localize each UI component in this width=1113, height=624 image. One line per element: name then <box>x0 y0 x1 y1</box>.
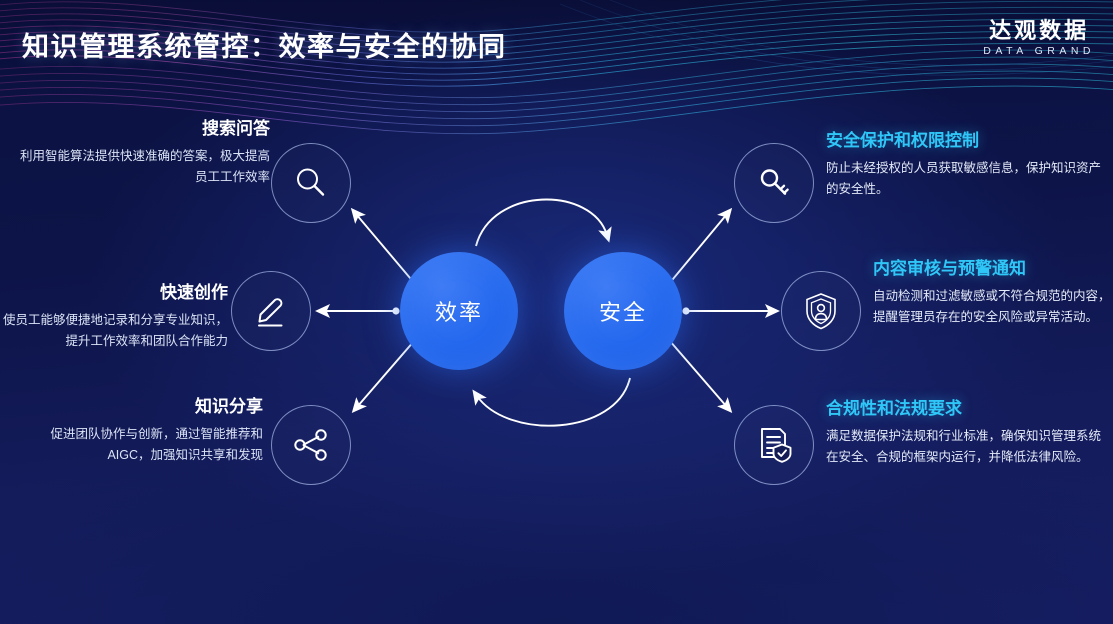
text-block-search-desc: 利用智能算法提供快速准确的答案，极大提高员工工作效率 <box>8 146 270 187</box>
text-block-create-desc: 使员工能够便捷地记录和分享专业知识，提升工作效率和团队合作能力 <box>0 310 228 351</box>
logo-text-en: DATA GRAND <box>983 45 1095 57</box>
hub-efficiency-label: 效率 <box>435 295 483 327</box>
shield-user-icon <box>799 289 843 333</box>
hub-security-label: 安全 <box>599 295 647 327</box>
text-block-security-title: 安全保护和权限控制 <box>826 130 1108 151</box>
text-block-audit-desc: 自动检测和过滤敏感或不符合规范的内容，提醒管理员存在的安全风险或异常活动。 <box>873 286 1111 327</box>
pencil-edit-icon <box>250 290 292 332</box>
text-block-create-title: 快速创作 <box>0 282 228 303</box>
logo-text-cn: 达观数据 <box>983 18 1095 43</box>
text-block-audit-title: 内容审核与预警通知 <box>873 258 1111 279</box>
document-shield-check-icon <box>752 423 796 467</box>
text-block-audit: 内容审核与预警通知 自动检测和过滤敏感或不符合规范的内容，提醒管理员存在的安全风… <box>873 258 1111 327</box>
text-block-compliance-desc: 满足数据保护法规和行业标准，确保知识管理系统在安全、合规的框架内运行，并降低法律… <box>826 426 1110 467</box>
share-network-icon <box>290 424 332 466</box>
text-block-security-desc: 防止未经授权的人员获取敏感信息，保护知识资产的安全性。 <box>826 158 1108 199</box>
hub-efficiency[interactable]: 效率 <box>400 252 518 370</box>
brand-logo: 达观数据 DATA GRAND <box>983 18 1095 57</box>
bubble-share[interactable] <box>271 405 351 485</box>
text-block-share-title: 知识分享 <box>8 396 263 417</box>
text-block-compliance-title: 合规性和法规要求 <box>826 398 1110 419</box>
slide-canvas: 知识管理系统管控：效率与安全的协同 达观数据 DATA GRAND <box>0 0 1113 624</box>
text-block-search: 搜索问答 利用智能算法提供快速准确的答案，极大提高员工工作效率 <box>8 118 270 187</box>
page-title: 知识管理系统管控：效率与安全的协同 <box>22 25 507 64</box>
hub-security[interactable]: 安全 <box>564 252 682 370</box>
text-block-compliance: 合规性和法规要求 满足数据保护法规和行业标准，确保知识管理系统在安全、合规的框架… <box>826 398 1110 467</box>
bubble-document[interactable] <box>734 405 814 485</box>
text-block-security: 安全保护和权限控制 防止未经授权的人员获取敏感信息，保护知识资产的安全性。 <box>826 130 1108 199</box>
bubble-key[interactable] <box>734 143 814 223</box>
text-block-share: 知识分享 促进团队协作与创新，通过智能推荐和AIGC，加强知识共享和发现 <box>8 396 263 465</box>
key-icon <box>753 162 795 204</box>
text-block-search-title: 搜索问答 <box>8 118 270 139</box>
search-icon <box>290 162 332 204</box>
bubble-search[interactable] <box>271 143 351 223</box>
text-block-share-desc: 促进团队协作与创新，通过智能推荐和AIGC，加强知识共享和发现 <box>8 424 263 465</box>
bubble-create[interactable] <box>231 271 311 351</box>
text-block-create: 快速创作 使员工能够便捷地记录和分享专业知识，提升工作效率和团队合作能力 <box>0 282 228 351</box>
bubble-shield[interactable] <box>781 271 861 351</box>
